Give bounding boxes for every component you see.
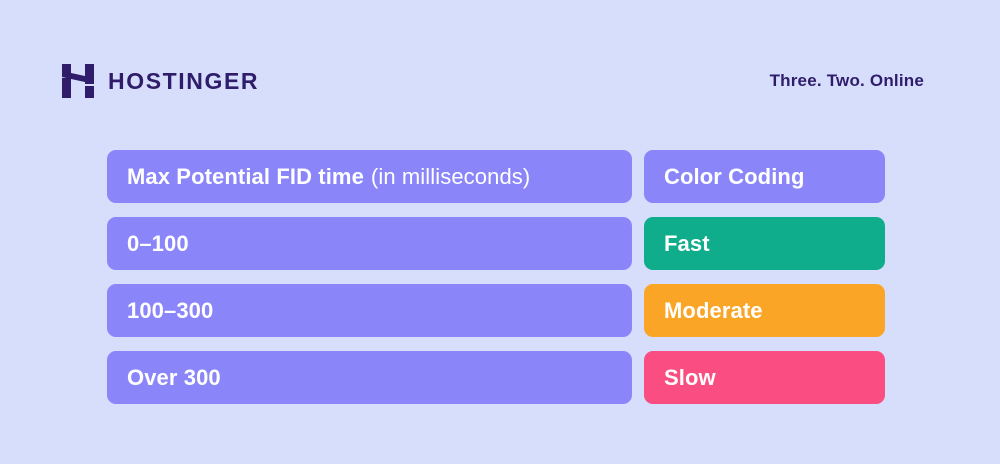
table-header-row: Max Potential FID time (in milliseconds)…: [107, 150, 885, 203]
table-row: 100–300 Moderate: [107, 284, 885, 337]
header-cell-color-coding: Color Coding: [644, 150, 885, 203]
header-cell-metric: Max Potential FID time (in milliseconds): [107, 150, 632, 203]
fid-reference-table: Max Potential FID time (in milliseconds)…: [107, 150, 885, 404]
status-badge-slow: Slow: [644, 351, 885, 404]
range-cell-slow: Over 300: [107, 351, 632, 404]
status-badge-moderate: Moderate: [644, 284, 885, 337]
range-cell-fast: 0–100: [107, 217, 632, 270]
brand-name: HOSTINGER: [108, 70, 259, 93]
page-header: HOSTINGER Three. Two. Online: [0, 0, 1000, 125]
hostinger-h-mark-icon: [62, 62, 94, 100]
range-cell-moderate: 100–300: [107, 284, 632, 337]
header-metric-unit: (in milliseconds): [371, 164, 530, 190]
status-badge-fast: Fast: [644, 217, 885, 270]
table-row: 0–100 Fast: [107, 217, 885, 270]
table-row: Over 300 Slow: [107, 351, 885, 404]
infographic-root: HOSTINGER Three. Two. Online Max Potenti…: [0, 0, 1000, 464]
brand-tagline: Three. Two. Online: [770, 72, 924, 89]
header-metric-main: Max Potential FID time: [127, 164, 364, 190]
brand-lockup: HOSTINGER: [62, 62, 259, 100]
